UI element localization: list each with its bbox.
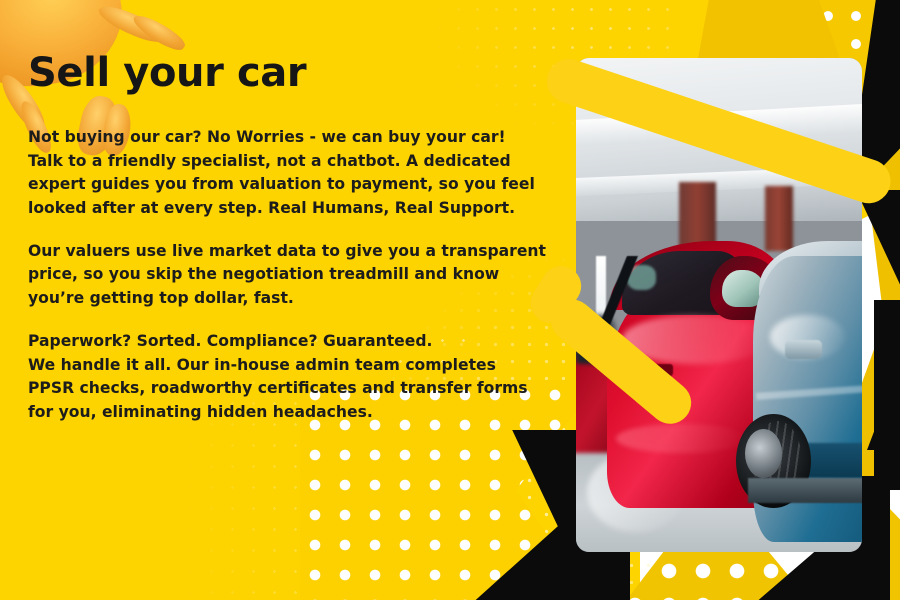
showroom-pillar-2 bbox=[765, 186, 794, 250]
blue-car-handle bbox=[785, 340, 822, 360]
black-strip-right bbox=[874, 300, 900, 490]
red-car-lower-highlight bbox=[616, 424, 748, 454]
poster-canvas: Sell your car Not buying our car? No Wor… bbox=[0, 0, 900, 600]
wheel-rim bbox=[745, 429, 782, 478]
body-paragraph-1: Not buying our car? No Worries - we can … bbox=[28, 126, 558, 221]
body-paragraph-2: Our valuers use live market data to give… bbox=[28, 240, 558, 311]
car-rocker-panel bbox=[748, 478, 862, 503]
body-paragraph-3: Paperwork? Sorted. Compliance? Guarantee… bbox=[28, 330, 558, 425]
page-title: Sell your car bbox=[28, 52, 558, 94]
text-content: Sell your car Not buying our car? No Wor… bbox=[28, 52, 558, 425]
